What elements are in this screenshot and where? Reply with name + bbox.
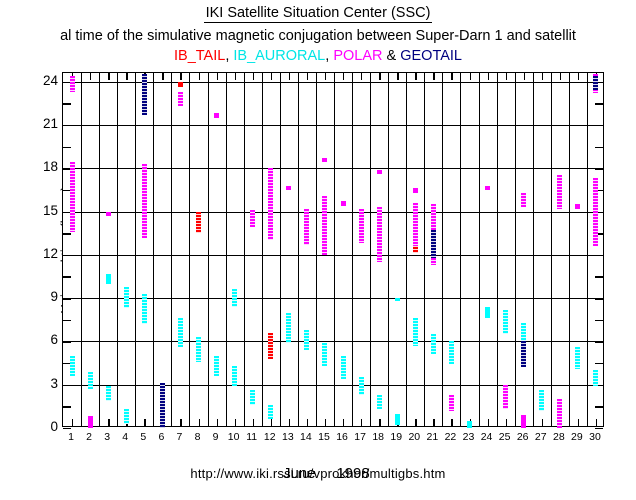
y-tick-label: 6 bbox=[28, 333, 58, 347]
data-bar-ib-auroral bbox=[395, 298, 400, 301]
data-bar-ib-auroral bbox=[142, 294, 147, 324]
data-bar-polar bbox=[449, 395, 454, 411]
x-tick-label: 29 bbox=[567, 432, 587, 443]
data-bar-ib-auroral bbox=[503, 310, 508, 335]
data-bar-geotail bbox=[160, 383, 165, 428]
y-axis-ticks: 03691215182124 bbox=[22, 72, 58, 427]
data-bar-polar bbox=[593, 178, 598, 246]
data-bar-ib-auroral bbox=[124, 287, 129, 309]
data-bar-polar bbox=[178, 92, 183, 106]
data-bar-ib-auroral bbox=[106, 274, 111, 284]
x-tick-label: 12 bbox=[260, 432, 280, 443]
x-axis-ticks: 1234567891011121314151617181920212223242… bbox=[62, 430, 604, 446]
data-bar-geotail bbox=[593, 76, 598, 90]
page-title-text: IKI Satellite Situation Center (SSC) bbox=[204, 5, 433, 23]
data-bar-polar bbox=[413, 188, 418, 192]
x-tick-label: 6 bbox=[151, 432, 171, 443]
data-bar-ib-auroral bbox=[268, 405, 273, 419]
data-bar-ib-auroral bbox=[286, 313, 291, 343]
y-tick-label: 15 bbox=[28, 204, 58, 218]
x-tick-label: 9 bbox=[206, 432, 226, 443]
data-bar-polar bbox=[575, 204, 580, 208]
data-bar-polar bbox=[214, 113, 219, 117]
x-tick-label: 5 bbox=[133, 432, 153, 443]
data-bar-ib-auroral bbox=[232, 366, 237, 386]
data-bar-polar bbox=[70, 162, 75, 231]
data-bar-ib-auroral bbox=[106, 386, 111, 400]
x-tick-label: 21 bbox=[422, 432, 442, 443]
data-bar-polar bbox=[377, 207, 382, 262]
x-tick-label: 4 bbox=[115, 432, 135, 443]
data-bar-geotail bbox=[521, 341, 526, 367]
data-bar-ib-auroral bbox=[341, 356, 346, 379]
data-bar-ib-auroral bbox=[322, 343, 327, 366]
data-bar-ib-auroral bbox=[88, 372, 93, 389]
data-bar-ib-auroral bbox=[593, 370, 598, 386]
x-tick-label: 1 bbox=[61, 432, 81, 443]
data-bar-ib-auroral bbox=[575, 347, 580, 369]
data-bar-polar bbox=[70, 76, 75, 92]
page-subtitle: al time of the simulative magnetic conju… bbox=[60, 28, 576, 44]
data-bar-polar bbox=[304, 209, 309, 245]
x-tick-label: 22 bbox=[440, 432, 460, 443]
x-tick-label: 11 bbox=[242, 432, 262, 443]
data-bar-ib-auroral bbox=[539, 390, 544, 410]
data-bar-polar bbox=[322, 196, 327, 255]
data-bar-ib-tail bbox=[268, 333, 273, 359]
x-tick-label: 30 bbox=[585, 432, 605, 443]
x-tick-label: 2 bbox=[79, 432, 99, 443]
data-bar-ib-auroral bbox=[485, 307, 490, 319]
x-tick-label: 10 bbox=[224, 432, 244, 443]
data-bar-polar bbox=[557, 175, 562, 208]
data-bar-ib-auroral bbox=[449, 341, 454, 364]
source-url: http://www.iki.rssi.ru/vprokhor/multigbs… bbox=[0, 466, 636, 481]
data-bar-ib-tail bbox=[178, 82, 183, 88]
data-layer bbox=[63, 73, 603, 426]
data-bar-ib-auroral bbox=[377, 395, 382, 409]
x-tick-label: 13 bbox=[278, 432, 298, 443]
legend: IB_TAIL, IB_AURORAL, POLAR & GEOTAIL bbox=[0, 48, 636, 64]
data-bar-geotail bbox=[431, 230, 436, 257]
x-tick-label: 19 bbox=[386, 432, 406, 443]
data-bar-ib-auroral bbox=[70, 356, 75, 376]
x-tick-label: 26 bbox=[513, 432, 533, 443]
x-tick-label: 16 bbox=[332, 432, 352, 443]
y-tick-label: 3 bbox=[28, 377, 58, 391]
x-tick-label: 15 bbox=[314, 432, 334, 443]
y-tick-label: 0 bbox=[28, 420, 58, 434]
data-bar-ib-auroral bbox=[232, 289, 237, 306]
legend-item-ib-auroral: IB_AURORAL bbox=[233, 48, 325, 64]
data-bar-geotail bbox=[142, 74, 147, 114]
data-bar-ib-auroral bbox=[359, 377, 364, 394]
x-tick-label: 24 bbox=[477, 432, 497, 443]
x-tick-label: 23 bbox=[459, 432, 479, 443]
x-tick-label: 7 bbox=[169, 432, 189, 443]
data-bar-polar bbox=[106, 212, 111, 216]
data-bar-ib-auroral bbox=[395, 414, 400, 426]
data-bar-ib-tail bbox=[196, 212, 201, 234]
legend-item-ib-tail: IB_TAIL bbox=[174, 48, 225, 64]
data-bar-polar bbox=[521, 415, 526, 428]
data-bar-polar bbox=[322, 158, 327, 162]
data-bar-ib-auroral bbox=[178, 318, 183, 347]
y-tick-label: 12 bbox=[28, 247, 58, 261]
data-bar-polar bbox=[286, 186, 291, 190]
page-title: IKI Satellite Situation Center (SSC) bbox=[0, 5, 636, 21]
data-bar-ib-auroral bbox=[413, 318, 418, 345]
x-tick-label: 27 bbox=[531, 432, 551, 443]
data-bar-polar bbox=[359, 209, 364, 244]
data-bar-ib-auroral bbox=[250, 390, 255, 404]
y-tick-label: 24 bbox=[28, 74, 58, 88]
y-tick-label: 9 bbox=[28, 290, 58, 304]
data-bar-ib-auroral bbox=[431, 334, 436, 354]
legend-sep-3: & bbox=[382, 48, 400, 64]
data-bar-polar bbox=[413, 203, 418, 246]
x-tick-label: 3 bbox=[97, 432, 117, 443]
x-tick-label: 20 bbox=[404, 432, 424, 443]
data-bar-polar bbox=[557, 399, 562, 428]
data-bar-polar bbox=[341, 201, 346, 205]
data-bar-ib-auroral bbox=[196, 337, 201, 362]
data-bar-polar bbox=[88, 416, 93, 428]
y-tick-label: 18 bbox=[28, 160, 58, 174]
x-tick-label: 28 bbox=[549, 432, 569, 443]
data-bar-polar bbox=[377, 170, 382, 174]
data-bar-ib-auroral bbox=[304, 330, 309, 350]
legend-item-geotail: GEOTAIL bbox=[400, 48, 462, 64]
x-tick-label: 14 bbox=[296, 432, 316, 443]
data-bar-ib-auroral bbox=[214, 356, 219, 376]
x-tick-label: 25 bbox=[495, 432, 515, 443]
data-bar-polar bbox=[268, 168, 273, 240]
data-bar-ib-auroral bbox=[467, 421, 472, 428]
data-bar-polar bbox=[503, 385, 508, 410]
data-bar-ib-auroral bbox=[124, 409, 129, 423]
x-tick-label: 17 bbox=[350, 432, 370, 443]
y-tick-label: 21 bbox=[28, 117, 58, 131]
y-axis-label-wrap: Universal time (hours) bbox=[0, 72, 22, 427]
x-tick-label: 18 bbox=[368, 432, 388, 443]
data-bar-polar bbox=[142, 164, 147, 238]
ssc-plot-page: IKI Satellite Situation Center (SSC) al … bbox=[0, 0, 636, 500]
legend-item-polar: POLAR bbox=[333, 48, 382, 64]
data-bar-polar bbox=[521, 193, 526, 207]
x-tick-label: 8 bbox=[188, 432, 208, 443]
plot-area bbox=[62, 72, 604, 427]
data-bar-polar bbox=[250, 210, 255, 227]
data-bar-polar bbox=[485, 186, 490, 190]
